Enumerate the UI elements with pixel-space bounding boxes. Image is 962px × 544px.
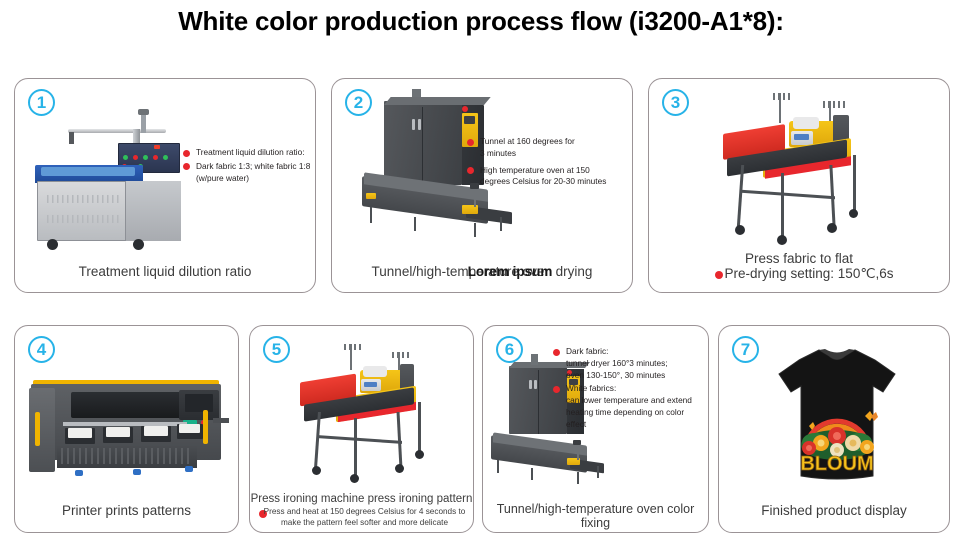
tshirt-svg: BLOUM — [757, 344, 917, 486]
bullet-item: Treatment liquid dilution ratio: — [183, 147, 313, 159]
process-card-1[interactable]: 1 — [14, 78, 316, 293]
bullet-item: White fabrics: can lower temperature and… — [553, 383, 705, 430]
card-6-bullet-list: Dark fabric: tunnel dryer 160°3 minutes;… — [553, 346, 705, 432]
card-6-caption: Tunnel/high-temperature oven color fixin… — [483, 502, 708, 530]
heat-press-machine-image — [721, 93, 896, 245]
process-card-7[interactable]: 7 — [718, 325, 950, 533]
bullet-item: Dark fabric: tunnel dryer 160°3 minutes;… — [553, 346, 705, 381]
process-card-6[interactable]: 6 Dark fabric: tunnel dryer 16 — [482, 325, 709, 533]
page-title: White color production process flow (i32… — [0, 6, 962, 37]
step-number-badge: 7 — [732, 336, 759, 363]
card-7-caption: Finished product display — [719, 503, 949, 518]
process-card-2[interactable]: 2 Tunnel at 160 — [331, 78, 633, 293]
card-1-caption: Treatment liquid dilution ratio — [15, 264, 315, 279]
process-card-5[interactable]: 5 Press ironing machine press — [249, 325, 474, 533]
step-number-badge: 3 — [662, 89, 689, 116]
process-card-4[interactable]: 4 — [14, 325, 239, 533]
treatment-liquid-dipping-tank-image — [33, 107, 188, 257]
process-flow-infographic: White color production process flow (i32… — [0, 0, 962, 544]
card-3-caption: Press fabric to flat — [649, 251, 949, 266]
process-card-3[interactable]: 3 — [648, 78, 950, 293]
bullet-item: Dark fabric 1:3; white fabric 1:8 (w/pur… — [183, 161, 313, 185]
step-number-badge: 4 — [28, 336, 55, 363]
bullet-item: High temperature oven at 150 degrees Cel… — [467, 165, 629, 189]
step-number-badge: 5 — [263, 336, 290, 363]
finished-tshirt-image: BLOUM — [757, 344, 917, 486]
heat-press-machine-image — [298, 344, 458, 484]
card-4-caption: Printer prints patterns — [15, 503, 238, 518]
card-1-bullet-list: Treatment liquid dilution ratio: Dark fa… — [183, 147, 313, 186]
card-5-caption: Press ironing machine press ironing patt… — [250, 493, 473, 505]
bullet-item: Tunnel at 160 degrees for 3 minutes — [467, 136, 629, 160]
dtg-printer-image — [27, 374, 227, 484]
card-2-caption-overlay: Lorem ipsum — [360, 264, 660, 279]
card-2-bullet-list: Tunnel at 160 degrees for 3 minutes High… — [467, 136, 629, 190]
card-5-caption-bullet: Press and heat at 150 degrees Celsius fo… — [262, 506, 467, 529]
tshirt-print-text: BLOUM — [800, 453, 873, 475]
card-3-caption-bullet: Pre-drying setting: 150℃,6s — [659, 266, 959, 282]
